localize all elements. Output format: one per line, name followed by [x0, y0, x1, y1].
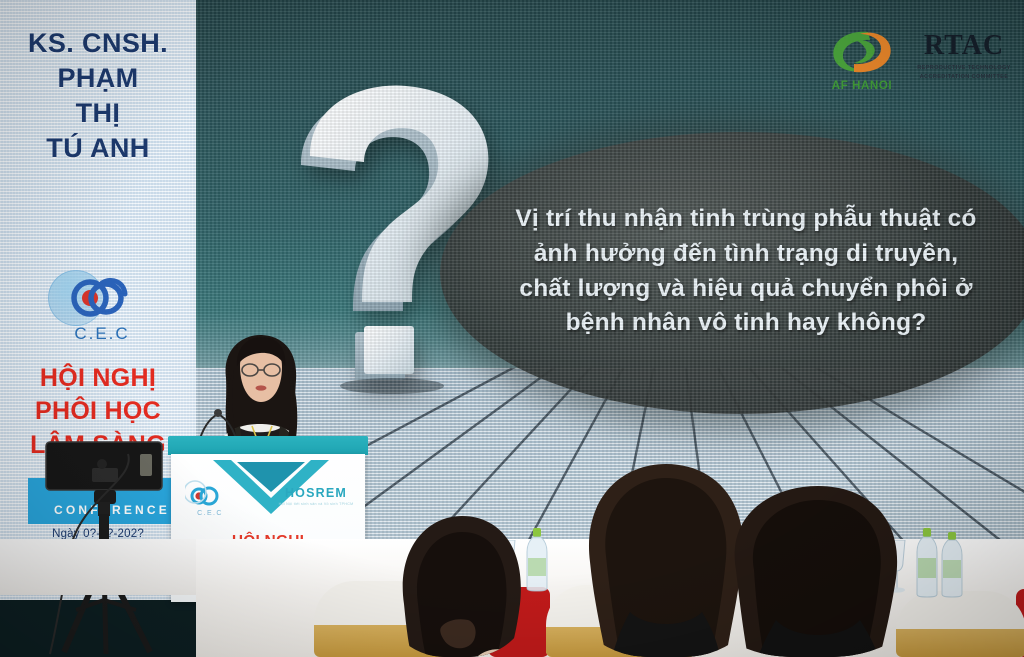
rtac-subtitle: REPRODUCTIVE TECHNOLOGY ACCREDITATION CO… — [916, 64, 1012, 81]
speaker-name-line-2: PHẠM — [0, 61, 196, 96]
af-swirl-icon — [824, 26, 900, 78]
conference-title-line-1: HỘI NGHỊ — [0, 362, 196, 395]
water-bottle — [940, 532, 964, 598]
sponsor-logo-row: AF HANOI RTAC REPRODUCTIVE TECHNOLOGY AC… — [824, 22, 1012, 96]
rtac-subtitle-line-1: REPRODUCTIVE TECHNOLOGY — [916, 64, 1012, 73]
conference-title-line-2: PHÔI HỌC — [0, 395, 196, 428]
table-left-segment — [0, 539, 196, 595]
audience-head — [382, 508, 532, 657]
question-line-3: chất lượng và hiệu quả chuyển phôi ở — [466, 272, 1024, 307]
podium-top-edge — [168, 436, 368, 455]
af-hanoi-label: AF HANOI — [824, 80, 900, 92]
speaker-name-line-3: THỊ — [0, 96, 196, 131]
screenshot-root: KS. CNSH. PHẠM THỊ TÚ ANH C.E.C HỘI NGHỊ… — [0, 0, 1024, 657]
rtac-label: RTAC — [916, 32, 1012, 60]
question-callout-ellipse: Vị trí thu nhận tinh trùng phẫu thuật có… — [440, 132, 1024, 414]
audience-head — [692, 478, 932, 657]
podium-cec-at-icon — [185, 480, 235, 512]
hosrem-subtitle: Hội Nội tiết sinh sản và Vô sinh TPHCM — [277, 502, 355, 506]
podium-cec-label: C.E.C — [185, 510, 235, 517]
speaker-name-block: KS. CNSH. PHẠM THỊ TÚ ANH — [0, 26, 196, 166]
rtac-logo: RTAC REPRODUCTIVE TECHNOLOGY ACCREDITATI… — [916, 28, 1012, 90]
question-line-4: bệnh nhân vô tinh hay không? — [466, 306, 1024, 341]
podium-cec-logo: C.E.C — [185, 480, 235, 524]
question-line-1: Vị trí thu nhận tinh trùng phẫu thuật có — [466, 202, 1024, 237]
question-line-2: ảnh hưởng đến tình trạng di truyền, — [466, 237, 1024, 272]
cec-logo-label: C.E.C — [48, 324, 156, 344]
podium-hosrem-logo: HOSREM Hội Nội tiết sinh sản và Vô sinh … — [277, 486, 355, 506]
rtac-subtitle-line-2: ACCREDITATION COMMITTEE — [916, 73, 1012, 82]
slide-question-text: Vị trí thu nhận tinh trùng phẫu thuật có… — [466, 202, 1024, 341]
speaker-name-line-4: TÚ ANH — [0, 131, 196, 166]
speaker-name-line-1: KS. CNSH. — [0, 26, 196, 61]
af-hanoi-logo: AF HANOI — [824, 26, 900, 92]
cec-at-icon — [68, 272, 130, 322]
hosrem-label: HOSREM — [277, 486, 355, 500]
cec-logo: C.E.C — [48, 268, 156, 352]
chair-sash — [896, 629, 1024, 657]
